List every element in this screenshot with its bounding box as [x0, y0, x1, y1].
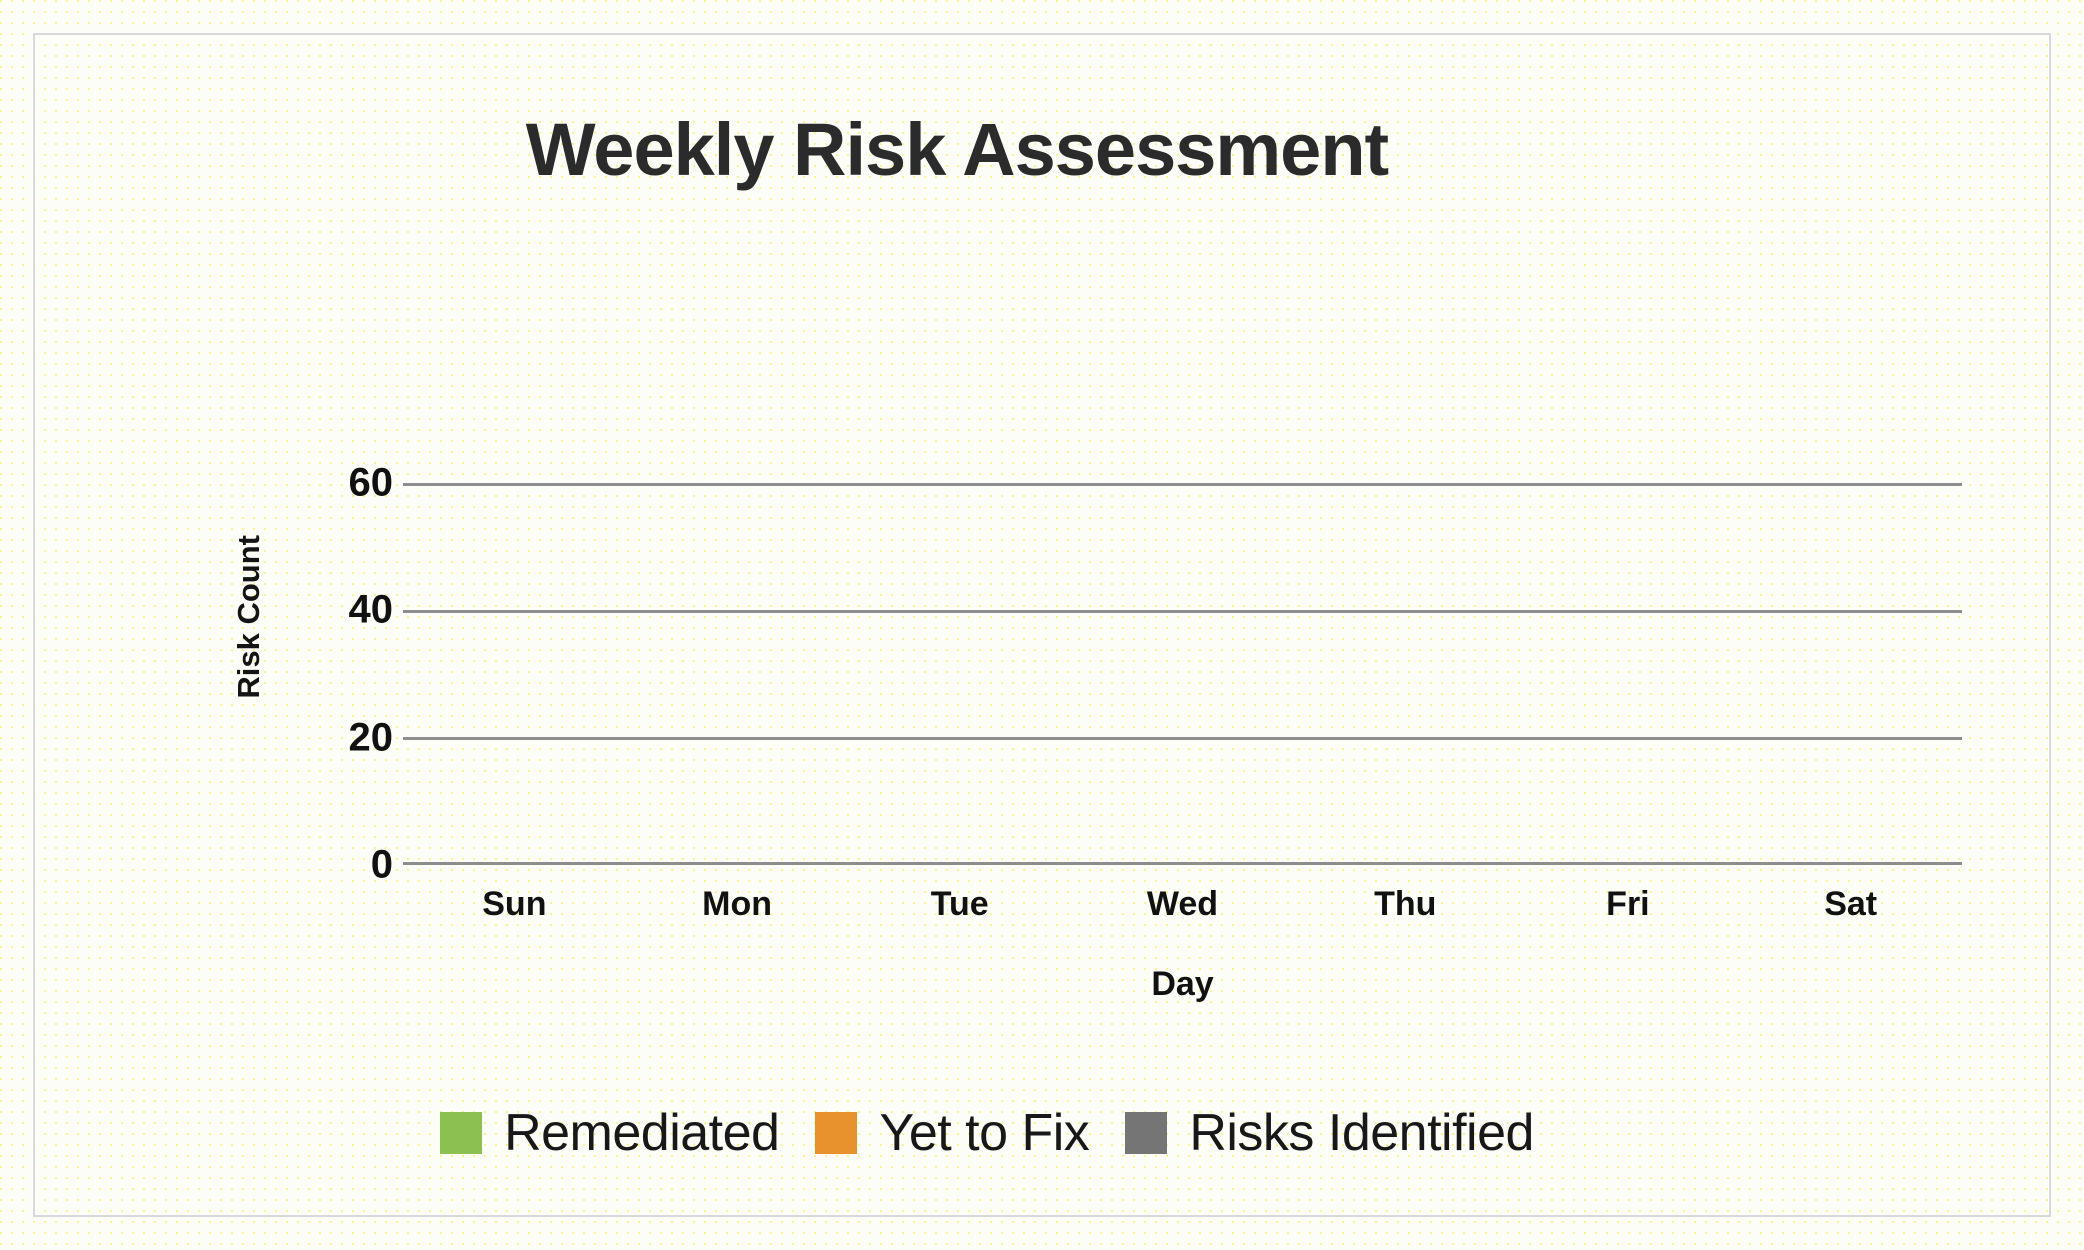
legend-swatch-icon	[440, 1112, 482, 1154]
x-tick-mon: Mon	[637, 885, 837, 924]
x-axis-label: Day	[403, 965, 1962, 1004]
legend-item-yet-to-fix[interactable]: Yet to Fix	[815, 1103, 1089, 1163]
chart-legend: Remediated Yet to Fix Risks Identified	[35, 1103, 2049, 1163]
y-tick-20: 20	[213, 715, 393, 760]
legend-item-risks-identified[interactable]: Risks Identified	[1125, 1103, 1534, 1163]
bar-group	[848, 483, 1071, 865]
legend-label: Yet to Fix	[879, 1103, 1089, 1163]
bar-group	[626, 483, 849, 865]
legend-label: Remediated	[504, 1103, 779, 1163]
legend-swatch-icon	[1125, 1112, 1167, 1154]
legend-item-remediated[interactable]: Remediated	[440, 1103, 779, 1163]
bar-group	[1294, 483, 1517, 865]
y-axis-ticks: 60 40 20 0	[213, 483, 393, 865]
y-tick-40: 40	[213, 588, 393, 633]
x-axis-ticks: Sun Mon Tue Wed Thu Fri Sat	[403, 885, 1962, 935]
bar-group	[1071, 483, 1294, 865]
bar-group	[1739, 483, 1962, 865]
chart-card: Weekly Risk Assessment Risk Count 60 40 …	[33, 33, 2051, 1217]
legend-swatch-icon	[815, 1112, 857, 1154]
x-tick-sun: Sun	[414, 885, 614, 924]
y-tick-0: 0	[213, 843, 393, 888]
legend-label: Risks Identified	[1189, 1103, 1534, 1163]
bar-series-layer	[403, 483, 1962, 865]
x-tick-thu: Thu	[1305, 885, 1505, 924]
page-title: Weekly Risk Assessment	[35, 107, 2049, 192]
plot-area	[403, 483, 1962, 865]
x-tick-tue: Tue	[860, 885, 1060, 924]
y-tick-60: 60	[213, 461, 393, 506]
x-tick-wed: Wed	[1083, 885, 1283, 924]
x-tick-sat: Sat	[1751, 885, 1951, 924]
bar-group	[1517, 483, 1740, 865]
bar-group	[403, 483, 626, 865]
x-tick-fri: Fri	[1528, 885, 1728, 924]
